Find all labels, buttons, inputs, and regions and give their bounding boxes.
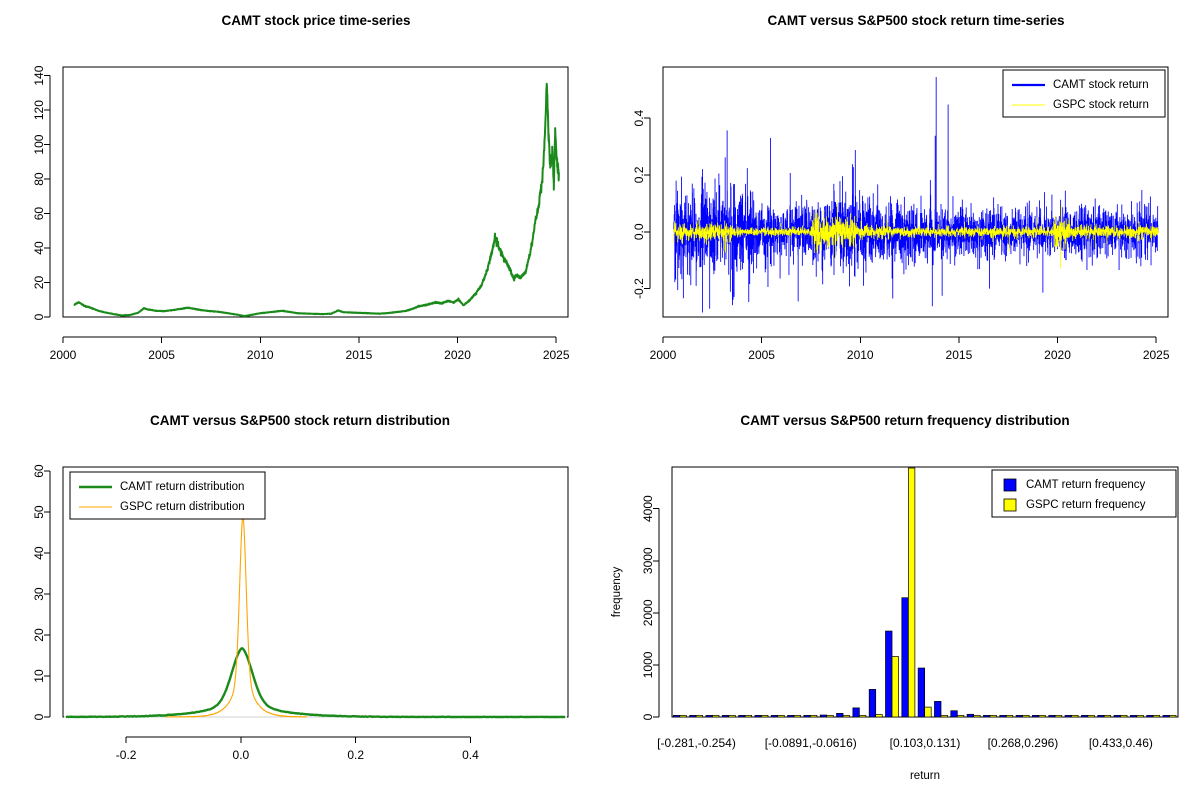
svg-text:0.0: 0.0 [233,748,250,762]
panel-return-timeseries: CAMT versus S&P500 stock return time-ser… [600,0,1200,400]
density-legend[interactable]: CAMT return distributionGSPC return dist… [70,472,265,519]
histogram-bar [1153,715,1160,717]
svg-text:2020: 2020 [1044,348,1071,362]
histogram-bar [712,715,719,717]
histogram-bar [934,701,941,717]
legend-label-0: CAMT return frequency [1026,479,1146,491]
histogram-bar [869,689,876,717]
histogram-bar [859,715,866,717]
svg-text:20: 20 [32,628,46,642]
histogram-bar [941,715,948,717]
svg-text:2000: 2000 [641,599,655,626]
r-multipanel-figure: CAMT stock price time-series 20002005201… [0,0,1200,800]
svg-text:-0.2: -0.2 [632,278,646,299]
histogram-bar [918,668,925,717]
histogram-bar [951,711,958,717]
histogram-bar [755,715,762,717]
svg-text:2020: 2020 [444,348,471,362]
panel-camt-stock-price: CAMT stock price time-series 20002005201… [0,0,600,400]
svg-text:0: 0 [32,313,46,320]
svg-text:60: 60 [32,207,46,221]
histogram-bar [696,715,703,717]
histogram-bar [974,715,981,717]
svg-text:50: 50 [32,505,46,519]
svg-text:2015: 2015 [346,348,373,362]
histogram-bar [820,715,827,717]
histogram-xtick-1: [-0.0891,-0.0616) [765,736,857,750]
histogram-bar [673,715,680,717]
histogram-bar [1147,715,1154,717]
legend-swatch-0 [1004,479,1016,491]
histogram-bar [739,715,746,717]
panel-title-histogram: CAMT versus S&P500 return frequency dist… [740,413,1069,428]
histogram-ylabel: frequency [611,567,623,618]
histogram-xtick-4: [0.433,0.46) [1089,736,1153,750]
svg-text:30: 30 [32,587,46,601]
histogram-xtick-3: [0.268,0.296) [988,736,1059,750]
legend-label-0: CAMT return distribution [120,481,244,493]
histogram-bar [690,715,697,717]
svg-text:0: 0 [641,713,655,720]
panel-title-price: CAMT stock price time-series [221,13,410,28]
svg-text:2025: 2025 [543,348,570,362]
histogram-bar [1049,715,1056,717]
panel-title-density: CAMT versus S&P500 stock return distribu… [150,413,450,428]
svg-text:100: 100 [32,134,46,154]
svg-text:10: 10 [32,669,46,683]
svg-text:0.4: 0.4 [632,109,646,126]
histogram-bar [983,715,990,717]
svg-text:140: 140 [32,65,46,85]
histogram-bar [837,713,844,717]
histogram-bar [1088,715,1095,717]
legend-label-0: CAMT stock return [1053,79,1149,91]
histogram-bar [1081,715,1088,717]
histogram-bar [1072,715,1079,717]
histogram-bar [1170,715,1177,717]
histogram-bar [794,715,801,717]
legend-label-1: GSPC stock return [1053,99,1149,111]
legend-label-1: GSPC return frequency [1026,499,1146,511]
svg-text:40: 40 [32,546,46,560]
density-series [64,515,567,717]
svg-text:0: 0 [32,713,46,720]
histogram-bar [1032,715,1039,717]
histogram-bar [1098,715,1105,717]
price-axes: 2000200520102015202020250204060801001201… [32,65,570,362]
histogram-bar [1039,715,1046,717]
histogram-bar [1104,715,1111,717]
svg-text:2000: 2000 [650,348,677,362]
svg-text:1000: 1000 [641,651,655,678]
histogram-bar [761,715,768,717]
svg-text:0.2: 0.2 [632,166,646,183]
svg-text:2005: 2005 [748,348,775,362]
svg-text:80: 80 [32,172,46,186]
svg-text:120: 120 [32,100,46,120]
histogram-bar [925,707,932,717]
histogram-bar [745,715,752,717]
svg-text:60: 60 [32,464,46,478]
histogram-bar [1065,715,1072,717]
svg-text:2005: 2005 [148,348,175,362]
histogram-bar [722,715,729,717]
histogram-bar [853,708,860,717]
histogram-bar [892,657,899,717]
histogram-bar [788,715,795,717]
svg-text:2010: 2010 [847,348,874,362]
histogram-bar [1016,715,1023,717]
histogram-bar [843,715,850,717]
histogram-bar [680,715,687,717]
svg-text:4000: 4000 [641,495,655,522]
histogram-bar [967,714,974,717]
histogram-bar [1137,715,1144,717]
panel-title-returns: CAMT versus S&P500 stock return time-ser… [767,13,1064,28]
histogram-bar [1055,715,1062,717]
histogram-bar [908,468,915,717]
histogram-bar [804,715,811,717]
svg-text:40: 40 [32,241,46,255]
svg-text:0.2: 0.2 [347,748,364,762]
histogram-xtick-2: [0.103,0.131) [890,736,961,750]
histogram-bar [706,715,713,717]
histogram-bar [990,715,997,717]
histogram-legend[interactable]: CAMT return frequencyGSPC return frequen… [992,470,1176,517]
histogram-bar [810,715,817,717]
svg-text:2000: 2000 [50,348,77,362]
histogram-bar [1023,715,1030,717]
histogram-xtick-0: [-0.281,-0.254) [657,736,736,750]
histogram-xlabel: return [910,770,940,782]
panel-return-frequency: CAMT versus S&P500 return frequency dist… [600,400,1200,800]
svg-text:20: 20 [32,276,46,290]
price-series [74,84,559,316]
svg-text:-0.2: -0.2 [116,748,137,762]
svg-text:0.0: 0.0 [632,223,646,240]
svg-text:2015: 2015 [946,348,973,362]
histogram-bar [729,715,736,717]
histogram-bar [886,631,893,717]
svg-text:3000: 3000 [641,547,655,574]
panel-return-distribution: CAMT versus S&P500 stock return distribu… [0,400,600,800]
histogram-bar [1000,715,1007,717]
histogram-bar [1006,715,1013,717]
histogram-bar [771,715,778,717]
svg-text:2010: 2010 [247,348,274,362]
svg-text:0.4: 0.4 [462,748,479,762]
histogram-bar [827,715,834,717]
histogram-bar [1130,715,1137,717]
histogram-bar [1163,715,1170,717]
returns-legend[interactable]: CAMT stock returnGSPC stock return [1003,70,1165,117]
svg-text:2025: 2025 [1143,348,1170,362]
histogram-bar [957,715,964,717]
legend-swatch-1 [1004,499,1016,511]
histogram-bar [902,598,909,717]
histogram-bar [1121,715,1128,717]
histogram-bar [1114,715,1121,717]
legend-label-1: GSPC return distribution [120,501,245,513]
histogram-bar [778,715,785,717]
histogram-bar [876,715,883,718]
